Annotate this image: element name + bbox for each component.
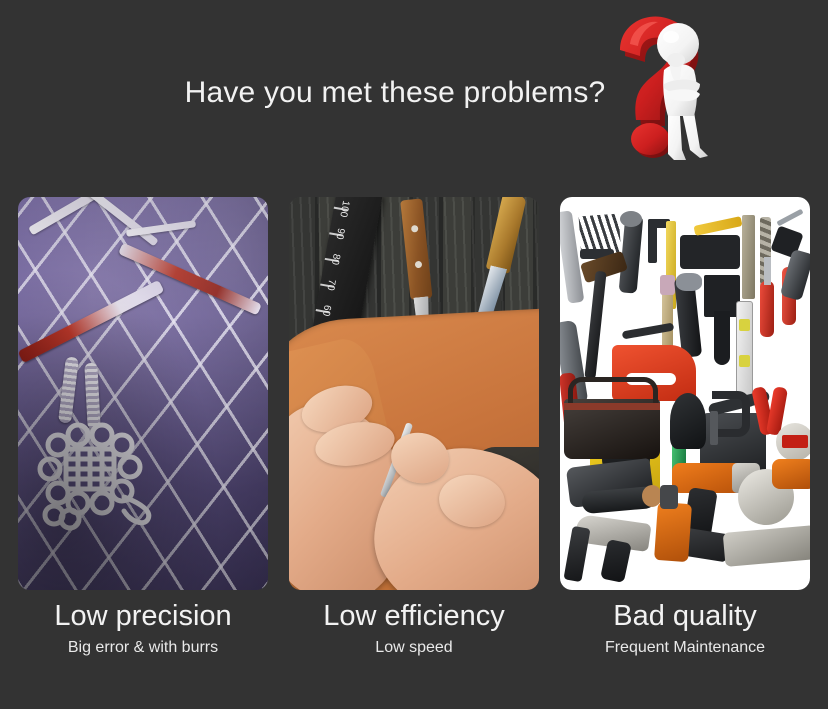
staple-gun-lever-icon xyxy=(693,216,742,236)
problem-card-low-precision[interactable] xyxy=(18,197,268,590)
reciprocating-saw-shoe-icon xyxy=(660,485,678,509)
tape-measure-label-icon xyxy=(782,435,808,448)
utility-knife-blade-icon xyxy=(776,209,803,227)
miter-saw-motor-icon xyxy=(772,459,810,489)
pliers-head-icon xyxy=(620,211,642,227)
tools-collage-photo xyxy=(560,197,810,590)
caption-bad-quality: Bad quality Frequent Maintenance xyxy=(560,596,810,696)
wire-cutter-icon xyxy=(780,249,810,301)
caption-title: Low efficiency xyxy=(289,596,539,636)
spirit-level-icon xyxy=(742,215,755,299)
screwdriver-red-icon xyxy=(760,281,774,337)
banner-header: Have you met these problems? xyxy=(0,0,828,180)
caption-subtitle: Big error & with burrs xyxy=(18,636,268,660)
caption-subtitle: Frequent Maintenance xyxy=(560,636,810,660)
tool-bag-trim-icon xyxy=(564,403,660,410)
caption-title: Low precision xyxy=(18,596,268,636)
reciprocating-saw-icon xyxy=(654,502,692,562)
leather-craft-photo: 100 90 80 70 60 50 40 30 20 xyxy=(289,197,539,590)
nail-gun-magazine-icon xyxy=(563,526,590,582)
photo-shading xyxy=(18,197,268,590)
caption-low-precision: Low precision Big error & with burrs xyxy=(18,596,268,696)
caption-row: Low precision Big error & with burrs Low… xyxy=(18,596,810,696)
staple-gun-icon xyxy=(680,235,740,269)
level-vial-icon xyxy=(739,319,750,331)
fabric-photo xyxy=(18,197,268,590)
pliers-jaw-icon xyxy=(676,273,702,291)
promo-banner: Have you met these problems? xyxy=(0,0,828,709)
question-mark-icon xyxy=(596,8,724,170)
claw-hammer-handle-icon xyxy=(584,271,606,380)
paintbrush-ferrule-icon xyxy=(660,275,675,295)
screwdriver-shaft-icon xyxy=(764,257,771,285)
c-clamp-screw-icon xyxy=(710,411,718,445)
putty-knife-handle-icon xyxy=(714,311,730,365)
problem-card-low-efficiency[interactable]: 100 90 80 70 60 50 40 30 20 xyxy=(289,197,539,590)
miter-saw-base-icon xyxy=(723,525,810,567)
spring-clamp-icon xyxy=(670,393,706,449)
caption-title: Bad quality xyxy=(560,596,810,636)
level-vial-icon xyxy=(739,355,750,367)
problem-card-bad-quality[interactable] xyxy=(560,197,810,590)
caption-subtitle: Low speed xyxy=(289,636,539,660)
tool-bag-handle-icon xyxy=(568,377,658,403)
caption-low-efficiency: Low efficiency Low speed xyxy=(289,596,539,696)
problem-card-row: 100 90 80 70 60 50 40 30 20 xyxy=(18,197,810,590)
